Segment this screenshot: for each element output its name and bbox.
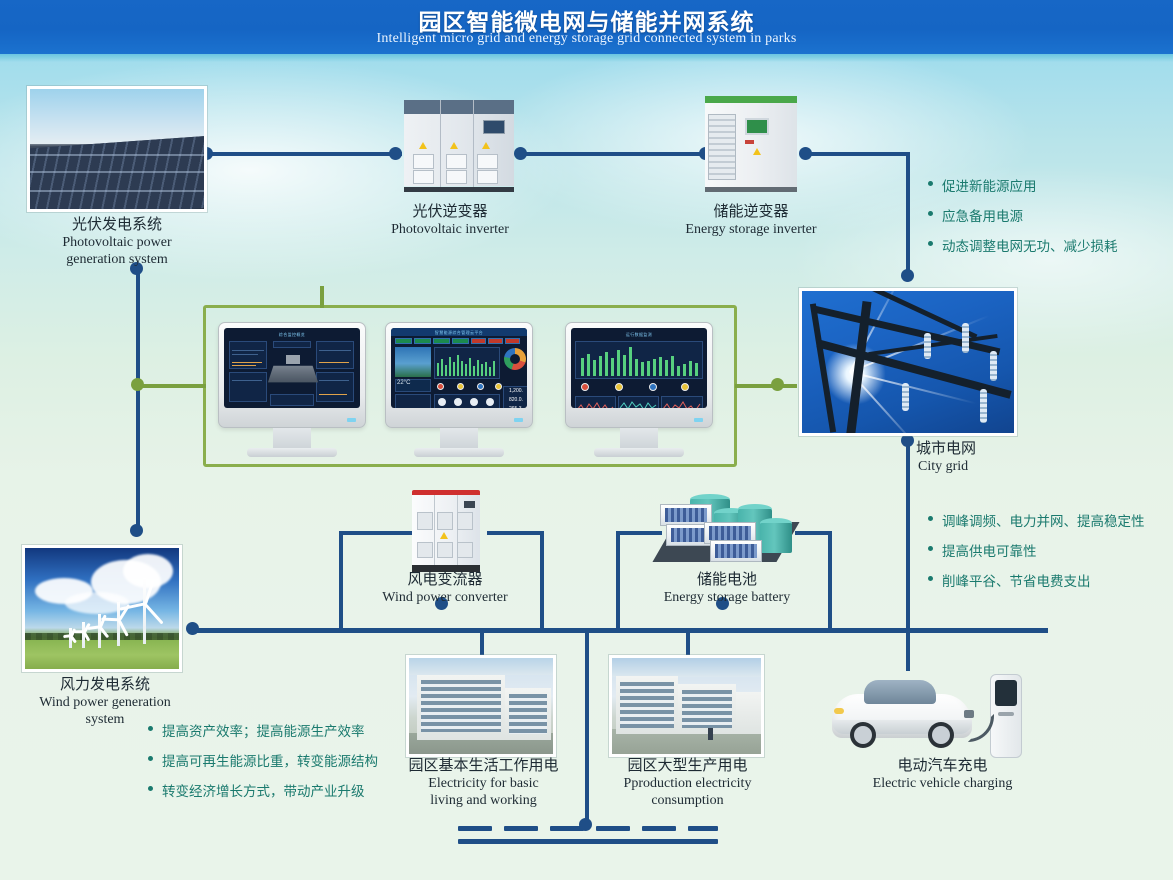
benefits-top-list: 促进新能源应用 应急备用电源 动态调整电网无功、减少损耗 bbox=[928, 175, 1118, 265]
diagram-canvas: 园区智能微电网与储能并网系统 Intelligent micro grid an… bbox=[0, 0, 1173, 880]
m3-bar-19 bbox=[689, 361, 692, 376]
wire-drop-basic bbox=[480, 633, 484, 655]
m2-bar-1 bbox=[437, 363, 439, 376]
m3-bar-16 bbox=[671, 356, 674, 376]
m2-kpi-4 bbox=[495, 383, 502, 390]
battery-container-4 bbox=[710, 540, 762, 562]
label-production-electricity: 园区大型生产用电 Pproduction electricity consump… bbox=[600, 757, 775, 809]
monitor-1-led bbox=[347, 418, 356, 422]
label-wind-cn: 风力发电系统 bbox=[10, 676, 200, 694]
label-pvinv-cn: 光伏逆变器 bbox=[355, 203, 545, 221]
benefit-right-1: 调峰调频、电力并网、提高稳定性 bbox=[928, 510, 1145, 530]
m3-bar-8 bbox=[623, 355, 626, 376]
m3-bar-7 bbox=[617, 350, 620, 376]
label-wc-cn: 风电变流器 bbox=[350, 571, 540, 589]
pvinv-divider-1 bbox=[440, 100, 441, 192]
bld1-windows bbox=[421, 680, 501, 732]
page-title-en: Intelligent micro grid and energy storag… bbox=[0, 31, 1173, 47]
m2-value-3: 265.3. bbox=[509, 406, 523, 408]
wire-inverter-to-storage bbox=[517, 152, 707, 156]
m3-bar-5 bbox=[605, 352, 608, 376]
node-green-right bbox=[771, 378, 784, 391]
wire-wc-right-vert bbox=[540, 531, 544, 631]
label-esinv-cn: 储能逆变器 bbox=[656, 203, 846, 221]
m1-data-1 bbox=[232, 362, 262, 363]
m3-bar-17 bbox=[677, 366, 680, 376]
wire-right-down bbox=[906, 152, 910, 276]
m2-icon-2 bbox=[454, 398, 462, 406]
photovoltaic-photo bbox=[27, 86, 207, 212]
wire-wc-right-horz bbox=[487, 531, 544, 535]
ev-charger-screen bbox=[995, 680, 1017, 706]
pvinv-vent-4 bbox=[413, 170, 434, 184]
m2-table-panel bbox=[395, 394, 431, 408]
m2-bar-5 bbox=[453, 362, 455, 376]
production-electricity-photo bbox=[609, 655, 764, 757]
m3-bar-6 bbox=[611, 358, 614, 376]
ground-dash-5 bbox=[642, 826, 676, 831]
m1-row-3 bbox=[319, 350, 351, 351]
m3-bar-4 bbox=[599, 356, 602, 376]
label-basic-en2: living and working bbox=[396, 792, 571, 809]
wire-bat-left-vert bbox=[616, 531, 620, 631]
m1-panel-br bbox=[316, 372, 354, 402]
label-pv-en2: generation system bbox=[22, 251, 212, 268]
node-ground bbox=[579, 818, 592, 831]
label-citygrid-cn: 城市电网 bbox=[880, 440, 1020, 458]
m2-icon-4 bbox=[486, 398, 494, 406]
m2-bar-9 bbox=[469, 358, 471, 376]
ev-charging-device bbox=[828, 660, 1048, 765]
pvinv-hmi-screen bbox=[483, 120, 505, 134]
label-wc-en1: Wind power converter bbox=[350, 589, 540, 606]
m2-bar-6 bbox=[457, 355, 459, 376]
benefit-top-1: 促进新能源应用 bbox=[928, 175, 1118, 195]
wc-warning-icon bbox=[440, 532, 448, 539]
m3-bar-15 bbox=[665, 360, 668, 376]
bld2-wing-windows bbox=[682, 690, 732, 728]
wind-converter-device bbox=[412, 490, 480, 572]
wire-bat-right-vert bbox=[828, 531, 832, 631]
pvinv-vent-5 bbox=[446, 170, 467, 184]
turbine-1 bbox=[129, 578, 159, 644]
node-green-left bbox=[131, 378, 144, 391]
m2-icon-3 bbox=[470, 398, 478, 406]
insulator-1 bbox=[924, 333, 931, 359]
benefit-bottom-2: 提高可再生能源比重，转变能源结构 bbox=[148, 750, 378, 770]
m3-bar-3 bbox=[593, 360, 596, 376]
monitor-1-base bbox=[247, 448, 337, 457]
esi-grill bbox=[708, 114, 736, 180]
pvinv-vent-2 bbox=[446, 154, 467, 169]
m2-chip-7 bbox=[505, 338, 520, 344]
label-prod-cn: 园区大型生产用电 bbox=[600, 757, 775, 775]
photovoltaic-inverter-device bbox=[404, 100, 514, 192]
wc-panel-6 bbox=[457, 542, 473, 558]
turbine-3-mast bbox=[98, 614, 101, 648]
benefit-bottom-1: 提高资产效率；提高能源生产效率 bbox=[148, 720, 378, 740]
turbine-1-mast bbox=[143, 578, 146, 644]
ev-wheel-rear bbox=[928, 722, 954, 748]
m3-kpi-1 bbox=[581, 383, 589, 391]
pvinv-base bbox=[404, 187, 514, 192]
ev-headlight bbox=[834, 708, 844, 714]
label-ev-charging: 电动汽车充电 Electric vehicle charging bbox=[845, 757, 1040, 792]
esi-warning-icon bbox=[753, 148, 761, 155]
m3-bar-2 bbox=[587, 354, 590, 376]
ground-bar-long bbox=[458, 839, 718, 844]
m3-kpi-3 bbox=[649, 383, 657, 391]
wc-panel-3 bbox=[457, 512, 473, 530]
ev-wheel-front bbox=[850, 722, 876, 748]
m3-sparkline-2 bbox=[618, 396, 659, 408]
m2-bar-11 bbox=[477, 360, 479, 376]
benefit-right-2: 提高供电可靠性 bbox=[928, 540, 1145, 560]
turbine-2 bbox=[107, 602, 129, 646]
wc-panel-4 bbox=[417, 542, 433, 558]
m2-chip-6 bbox=[488, 338, 503, 344]
bld1-sky bbox=[409, 658, 553, 675]
bld2-sky bbox=[612, 658, 761, 677]
monitor-1-title: 综合监控概览 bbox=[224, 332, 360, 338]
monitor-2-neck bbox=[440, 428, 478, 448]
m2-donut-hole bbox=[510, 354, 520, 364]
wire-drop-production bbox=[686, 633, 690, 655]
label-basic-cn: 园区基本生活工作用电 bbox=[396, 757, 571, 775]
monitor-1-screen: 综合监控概览 bbox=[224, 328, 360, 408]
m2-preview-image bbox=[395, 347, 431, 377]
monitor-3-base bbox=[594, 448, 684, 457]
m2-value-2: 820.0. bbox=[509, 397, 523, 403]
m2-icon-1 bbox=[438, 398, 446, 406]
ground-dash-6 bbox=[688, 826, 718, 831]
container-4-bands bbox=[715, 544, 757, 558]
container-3-bands bbox=[709, 526, 751, 540]
energy-storage-inverter-device bbox=[705, 96, 797, 192]
wc-panel-5 bbox=[437, 542, 453, 558]
m3-bar-18 bbox=[683, 364, 686, 376]
m1-data-3 bbox=[319, 362, 349, 363]
m2-kpi-3 bbox=[477, 383, 484, 390]
m1-panel-top bbox=[273, 341, 311, 348]
m1-row-1 bbox=[232, 350, 264, 351]
label-storage-inverter: 储能逆变器 Energy storage inverter bbox=[656, 203, 846, 238]
m3-sparkline-3 bbox=[661, 396, 703, 408]
label-bat-en1: Energy storage battery bbox=[632, 589, 822, 606]
ev-car-windows bbox=[864, 680, 936, 704]
m2-bar-7 bbox=[461, 361, 463, 376]
label-city-grid: 城市电网 City grid bbox=[880, 440, 1020, 475]
m2-value-1: 1,200. bbox=[509, 388, 523, 394]
m3-sparkline-1 bbox=[575, 396, 616, 408]
monitor-1-neck bbox=[273, 428, 311, 448]
m2-bar-10 bbox=[473, 366, 475, 376]
pv-row-3 bbox=[30, 190, 204, 192]
ev-charger-slot bbox=[998, 712, 1014, 716]
pvinv-vent-3 bbox=[477, 154, 498, 169]
esi-indicator bbox=[745, 140, 754, 144]
m2-chip-4 bbox=[452, 338, 469, 344]
monitor-2-led bbox=[514, 418, 523, 422]
pvinv-vent-6 bbox=[477, 170, 498, 184]
pvinv-warning-icon bbox=[419, 142, 427, 149]
benefit-right-3: 削峰平谷、节省电费支出 bbox=[928, 570, 1145, 590]
bld1-wing-windows bbox=[509, 694, 547, 734]
turbine-5 bbox=[65, 628, 75, 648]
m2-kpi-1 bbox=[437, 383, 444, 390]
wire-bat-right-horz bbox=[795, 531, 832, 535]
wire-wc-left-vert bbox=[339, 531, 343, 631]
m3-bar-12 bbox=[647, 361, 650, 376]
ground-dash-2 bbox=[504, 826, 538, 831]
insulator-3 bbox=[990, 351, 997, 381]
m2-bar-12 bbox=[481, 364, 483, 376]
m1-panel-bl bbox=[229, 372, 267, 402]
bld2-annex bbox=[736, 692, 763, 734]
label-basic-electricity: 园区基本生活工作用电 Electricity for basic living … bbox=[396, 757, 571, 809]
wc-divider-1 bbox=[434, 495, 435, 565]
esi-base bbox=[705, 187, 797, 192]
wire-green-left bbox=[138, 384, 206, 388]
m2-chip-3 bbox=[433, 338, 450, 344]
city-grid-photo bbox=[799, 288, 1017, 436]
wc-panel-1 bbox=[417, 512, 433, 530]
bld2-windows bbox=[620, 682, 674, 728]
label-ev-en1: Electric vehicle charging bbox=[845, 775, 1040, 792]
m3-kpi-4 bbox=[681, 383, 689, 391]
turbine-4-blade-3 bbox=[74, 631, 84, 634]
monitor-3-screen: 运行数据监测 bbox=[571, 328, 707, 408]
node-wind-bus bbox=[186, 622, 199, 635]
monitor-2[interactable]: 智慧能源综合管理云平台 22°C bbox=[385, 322, 533, 428]
m1-row-5 bbox=[232, 380, 262, 381]
label-photovoltaic: 光伏发电系统 Photovoltaic power generation sys… bbox=[22, 216, 212, 268]
benefit-top-2: 应急备用电源 bbox=[928, 205, 1118, 225]
monitor-3-led bbox=[694, 418, 703, 422]
label-basic-en1: Electricity for basic bbox=[396, 775, 571, 792]
pv-row-2 bbox=[30, 171, 204, 173]
m3-kpi-2 bbox=[615, 383, 623, 391]
label-prod-en1: Pproduction electricity bbox=[600, 775, 775, 792]
bld2-person bbox=[708, 728, 713, 740]
insulator-2 bbox=[962, 323, 969, 353]
wc-hmi bbox=[464, 501, 475, 508]
m1-row-4 bbox=[319, 380, 349, 381]
m3-bar-13 bbox=[653, 359, 656, 376]
label-wind-converter: 风电变流器 Wind power converter bbox=[350, 571, 540, 606]
m2-chip-1 bbox=[395, 338, 412, 344]
wire-storage-to-right bbox=[802, 152, 910, 156]
tank-4 bbox=[760, 523, 792, 553]
label-bat-cn: 储能电池 bbox=[632, 571, 822, 589]
label-wind-en1: Wind power generation bbox=[10, 694, 200, 711]
m2-temp-value: 22°C bbox=[397, 380, 410, 386]
pv-panel-array bbox=[27, 134, 207, 212]
wire-pv-to-inverter bbox=[206, 152, 402, 156]
m2-bar-8 bbox=[465, 364, 467, 376]
monitor-3[interactable]: 运行数据监测 bbox=[565, 322, 713, 428]
m3-bar-9 bbox=[629, 347, 632, 376]
insulator-5 bbox=[980, 389, 987, 423]
label-pvinv-en1: Photovoltaic inverter bbox=[355, 221, 545, 238]
m3-bar-10 bbox=[635, 359, 638, 376]
monitor-2-base bbox=[414, 448, 504, 457]
storage-battery-device bbox=[650, 478, 798, 570]
m2-bar-4 bbox=[449, 357, 451, 376]
label-storage-battery: 储能电池 Energy storage battery bbox=[632, 571, 822, 606]
m2-bar-2 bbox=[441, 359, 443, 376]
m2-bar-14 bbox=[489, 367, 491, 376]
monitor-3-title: 运行数据监测 bbox=[571, 332, 707, 338]
label-pv-cn: 光伏发电系统 bbox=[22, 216, 212, 234]
m1-panel-tr bbox=[316, 341, 354, 369]
m2-chip-5 bbox=[471, 338, 486, 344]
label-pv-en1: Photovoltaic power bbox=[22, 234, 212, 251]
esi-hmi-screen bbox=[745, 118, 769, 135]
node-esinv-out bbox=[799, 147, 812, 160]
wind-power-photo bbox=[22, 545, 182, 672]
turbine-4 bbox=[77, 622, 89, 648]
m3-bar-11 bbox=[641, 362, 644, 376]
benefits-bottom-list: 提高资产效率；提高能源生产效率 提高可再生能源比重，转变能源结构 转变经济增长方… bbox=[148, 720, 378, 810]
pv-sky bbox=[30, 89, 204, 144]
m2-chip-2 bbox=[414, 338, 431, 344]
monitor-1[interactable]: 综合监控概览 bbox=[218, 322, 366, 428]
wire-green-right bbox=[735, 384, 797, 388]
basic-electricity-photo bbox=[406, 655, 556, 757]
node-wind-in bbox=[130, 524, 143, 537]
turbine-1-blade-1 bbox=[144, 579, 154, 605]
benefit-bottom-3: 转变经济增长方式，带动产业升级 bbox=[148, 780, 378, 800]
m2-kpi-2 bbox=[457, 383, 464, 390]
turbine-1-blade-2 bbox=[144, 603, 163, 624]
m1-data-2 bbox=[232, 365, 256, 366]
node-pvinv-out bbox=[514, 147, 527, 160]
m3-bar-14 bbox=[659, 357, 662, 376]
insulator-4 bbox=[902, 383, 909, 411]
main-bus-line bbox=[192, 628, 1048, 633]
pvinv-divider-2 bbox=[473, 100, 474, 192]
label-pv-inverter: 光伏逆变器 Photovoltaic inverter bbox=[355, 203, 545, 238]
label-esinv-en1: Energy storage inverter bbox=[656, 221, 846, 238]
m2-bar-3 bbox=[445, 365, 447, 376]
monitor-3-neck bbox=[620, 428, 658, 448]
m1-3d-top bbox=[286, 355, 300, 364]
turbine-3 bbox=[91, 614, 107, 648]
turbine-2-blade-2 bbox=[118, 619, 129, 636]
benefit-top-3: 动态调整电网无功、减少损耗 bbox=[928, 235, 1118, 255]
monitor-2-screen: 智慧能源综合管理云平台 22°C bbox=[391, 328, 527, 408]
m2-bar-15 bbox=[493, 361, 495, 376]
node-pvinv-in bbox=[389, 147, 402, 160]
m1-data-4 bbox=[319, 394, 347, 395]
ground-dash-4 bbox=[596, 826, 630, 831]
m3-bar-20 bbox=[695, 363, 698, 376]
m1-panel-bottom bbox=[270, 394, 314, 406]
pvinv-warning-icon-2 bbox=[450, 142, 458, 149]
ev-charge-plug bbox=[964, 710, 974, 718]
m3-bar-1 bbox=[581, 358, 584, 376]
pvinv-vent-1 bbox=[413, 154, 434, 169]
node-citygrid-in bbox=[901, 269, 914, 282]
pvinv-warning-icon-3 bbox=[482, 142, 490, 149]
label-ev-cn: 电动汽车充电 bbox=[845, 757, 1040, 775]
pv-row-1 bbox=[30, 154, 204, 156]
m1-row-2 bbox=[232, 354, 258, 355]
container-1-bands bbox=[665, 508, 707, 522]
label-prod-en2: consumption bbox=[600, 792, 775, 809]
monitor-2-title: 智慧能源综合管理云平台 bbox=[391, 330, 527, 336]
wire-ground-vertical bbox=[585, 633, 589, 830]
m1-3d-model bbox=[268, 366, 318, 383]
ground-dash-1 bbox=[458, 826, 492, 831]
label-citygrid-en1: City grid bbox=[880, 458, 1020, 475]
wire-green-top bbox=[320, 286, 324, 308]
wire-pv-left-down bbox=[136, 268, 140, 530]
wc-panel-2 bbox=[437, 512, 453, 530]
turbine-2-blade-1 bbox=[118, 604, 130, 621]
m2-bar-13 bbox=[485, 362, 487, 376]
benefits-right-list: 调峰调频、电力并网、提高稳定性 提高供电可靠性 削峰平谷、节省电费支出 bbox=[928, 510, 1145, 600]
